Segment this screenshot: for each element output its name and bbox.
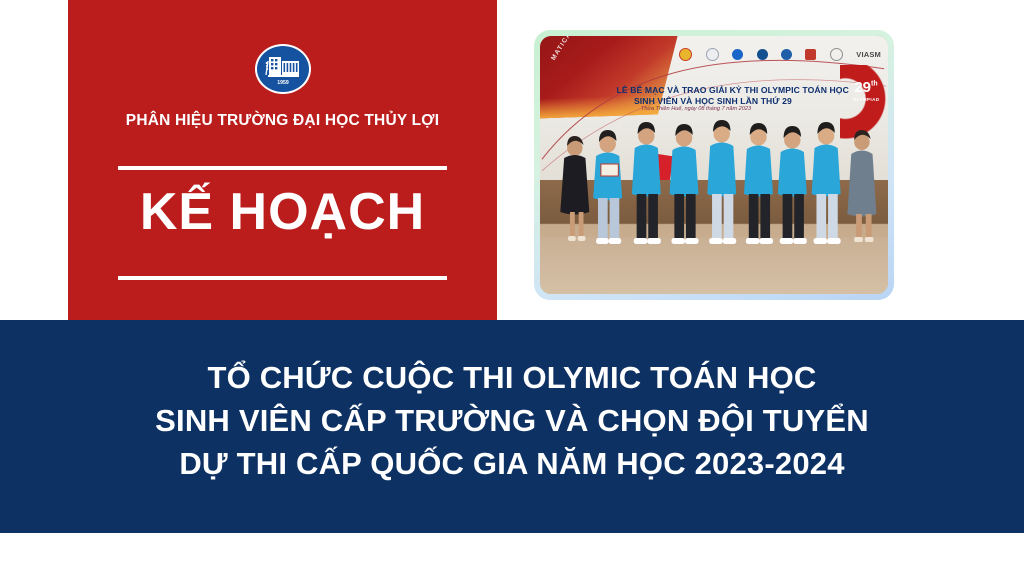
headline-line-1: TỔ CHỨC CUỘC THI OLYMIC TOÁN HỌC: [0, 356, 1024, 399]
logo-container: 1959: [68, 44, 497, 94]
university-dam-emblem-icon: 1959: [255, 44, 311, 94]
poster-canvas: 1959 PHÂN HIỆU TRƯỜNG ĐẠI HỌC THỦY LỢI K…: [0, 0, 1024, 578]
person-student: [632, 122, 661, 244]
ceremony-photo-card: MATICAL VIASM LỄ BẾ MẠC VÀ TRAO GIẢ: [534, 30, 894, 300]
organization-name: PHÂN HIỆU TRƯỜNG ĐẠI HỌC THỦY LỢI: [68, 112, 497, 130]
headline-line-3: DỰ THI CẤP QUỐC GIA NĂM HỌC 2023-2024: [0, 442, 1024, 485]
person-student-certificate: [593, 130, 622, 244]
person-teacher-left: [560, 136, 589, 241]
headline-block: TỔ CHỨC CUỘC THI OLYMIC TOÁN HỌC SINH VI…: [0, 356, 1024, 485]
person-student: [670, 124, 699, 244]
person-teacher-right: [847, 130, 876, 242]
red-header-panel: 1959 PHÂN HIỆU TRƯỜNG ĐẠI HỌC THỦY LỢI K…: [68, 0, 497, 320]
person-student: [812, 122, 841, 244]
ceremony-photo: MATICAL VIASM LỄ BẾ MẠC VÀ TRAO GIẢ: [540, 36, 888, 294]
logo-year-text: 1959: [277, 80, 289, 86]
people-group: [540, 36, 888, 294]
divider-bottom: [118, 276, 447, 280]
person-student: [707, 120, 736, 244]
headline-line-2: SINH VIÊN CẤP TRƯỜNG VÀ CHỌN ĐỘI TUYỂN: [0, 399, 1024, 442]
page-title: KẾ HOẠCH: [68, 186, 497, 238]
person-student: [778, 126, 807, 244]
divider-top: [118, 166, 447, 170]
blue-headline-band: TỔ CHỨC CUỘC THI OLYMIC TOÁN HỌC SINH VI…: [0, 320, 1024, 533]
person-student: [744, 123, 773, 244]
